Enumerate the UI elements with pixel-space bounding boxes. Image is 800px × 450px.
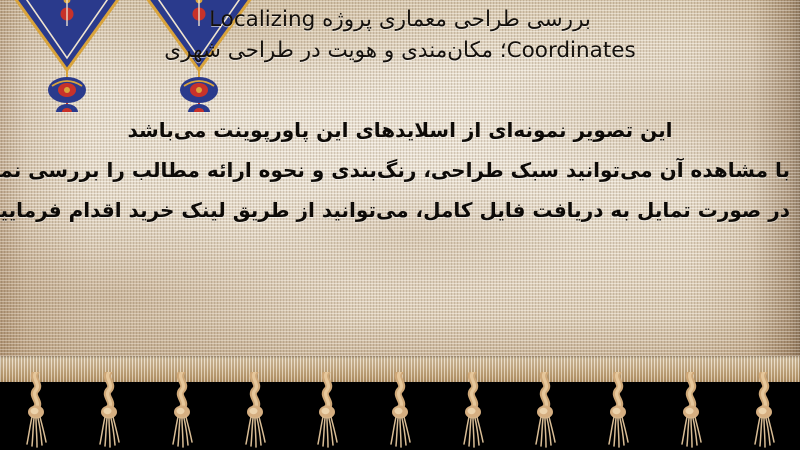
carpet-tassel <box>603 372 633 450</box>
body-line-1: این تصویر نمونه‌ای از اسلایدهای این پاور… <box>10 110 790 150</box>
carpet-tassel <box>385 372 415 450</box>
slide-body: این تصویر نمونه‌ای از اسلایدهای این پاور… <box>10 110 790 230</box>
slide-title: بررسی طراحی معماری پروژه Localizing Coor… <box>18 4 782 66</box>
slide-title-line-1: بررسی طراحی معماری پروژه Localizing <box>18 4 782 35</box>
carpet-tassel <box>312 372 342 450</box>
carpet-tassel <box>21 372 51 450</box>
carpet-tassel <box>167 372 197 450</box>
carpet-tassel <box>458 372 488 450</box>
carpet-tassel <box>94 372 124 450</box>
body-line-2: با مشاهده آن می‌توانید سبک طراحی، رنگ‌بن… <box>10 150 790 190</box>
carpet-tassel <box>676 372 706 450</box>
carpet-tassel <box>530 372 560 450</box>
slide-title-line-2: Coordinates؛ مکان‌مندی و هویت در طراحی ش… <box>18 35 782 66</box>
body-line-3: در صورت تمایل به دریافت فایل کامل، می‌تو… <box>10 190 790 230</box>
carpet-tassel <box>749 372 779 450</box>
slide-canvas: بررسی طراحی معماری پروژه Localizing Coor… <box>0 0 800 450</box>
carpet-fringe <box>0 356 800 450</box>
carpet-tassel <box>240 372 270 450</box>
